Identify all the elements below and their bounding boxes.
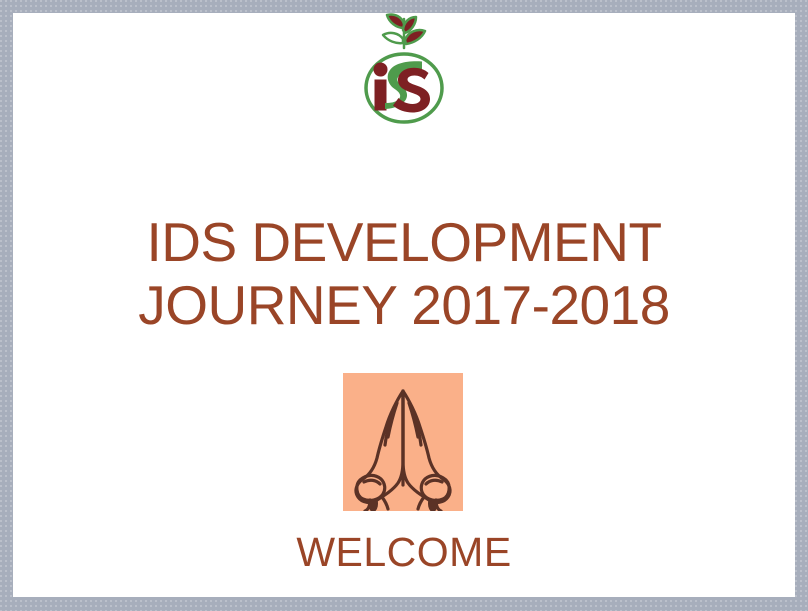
slide-canvas: IDS DEVELOPMENT JOURNEY 2017-2018 <box>13 13 795 597</box>
praying-hands-icon <box>343 373 463 511</box>
welcome-caption: WELCOME <box>13 529 795 575</box>
logo-container <box>13 13 795 129</box>
praying-hands-namaste-image <box>343 373 463 511</box>
ids-logo-icon <box>354 13 454 129</box>
slide-outer-frame: IDS DEVELOPMENT JOURNEY 2017-2018 <box>0 0 808 611</box>
page-title: IDS DEVELOPMENT JOURNEY 2017-2018 <box>13 211 795 337</box>
